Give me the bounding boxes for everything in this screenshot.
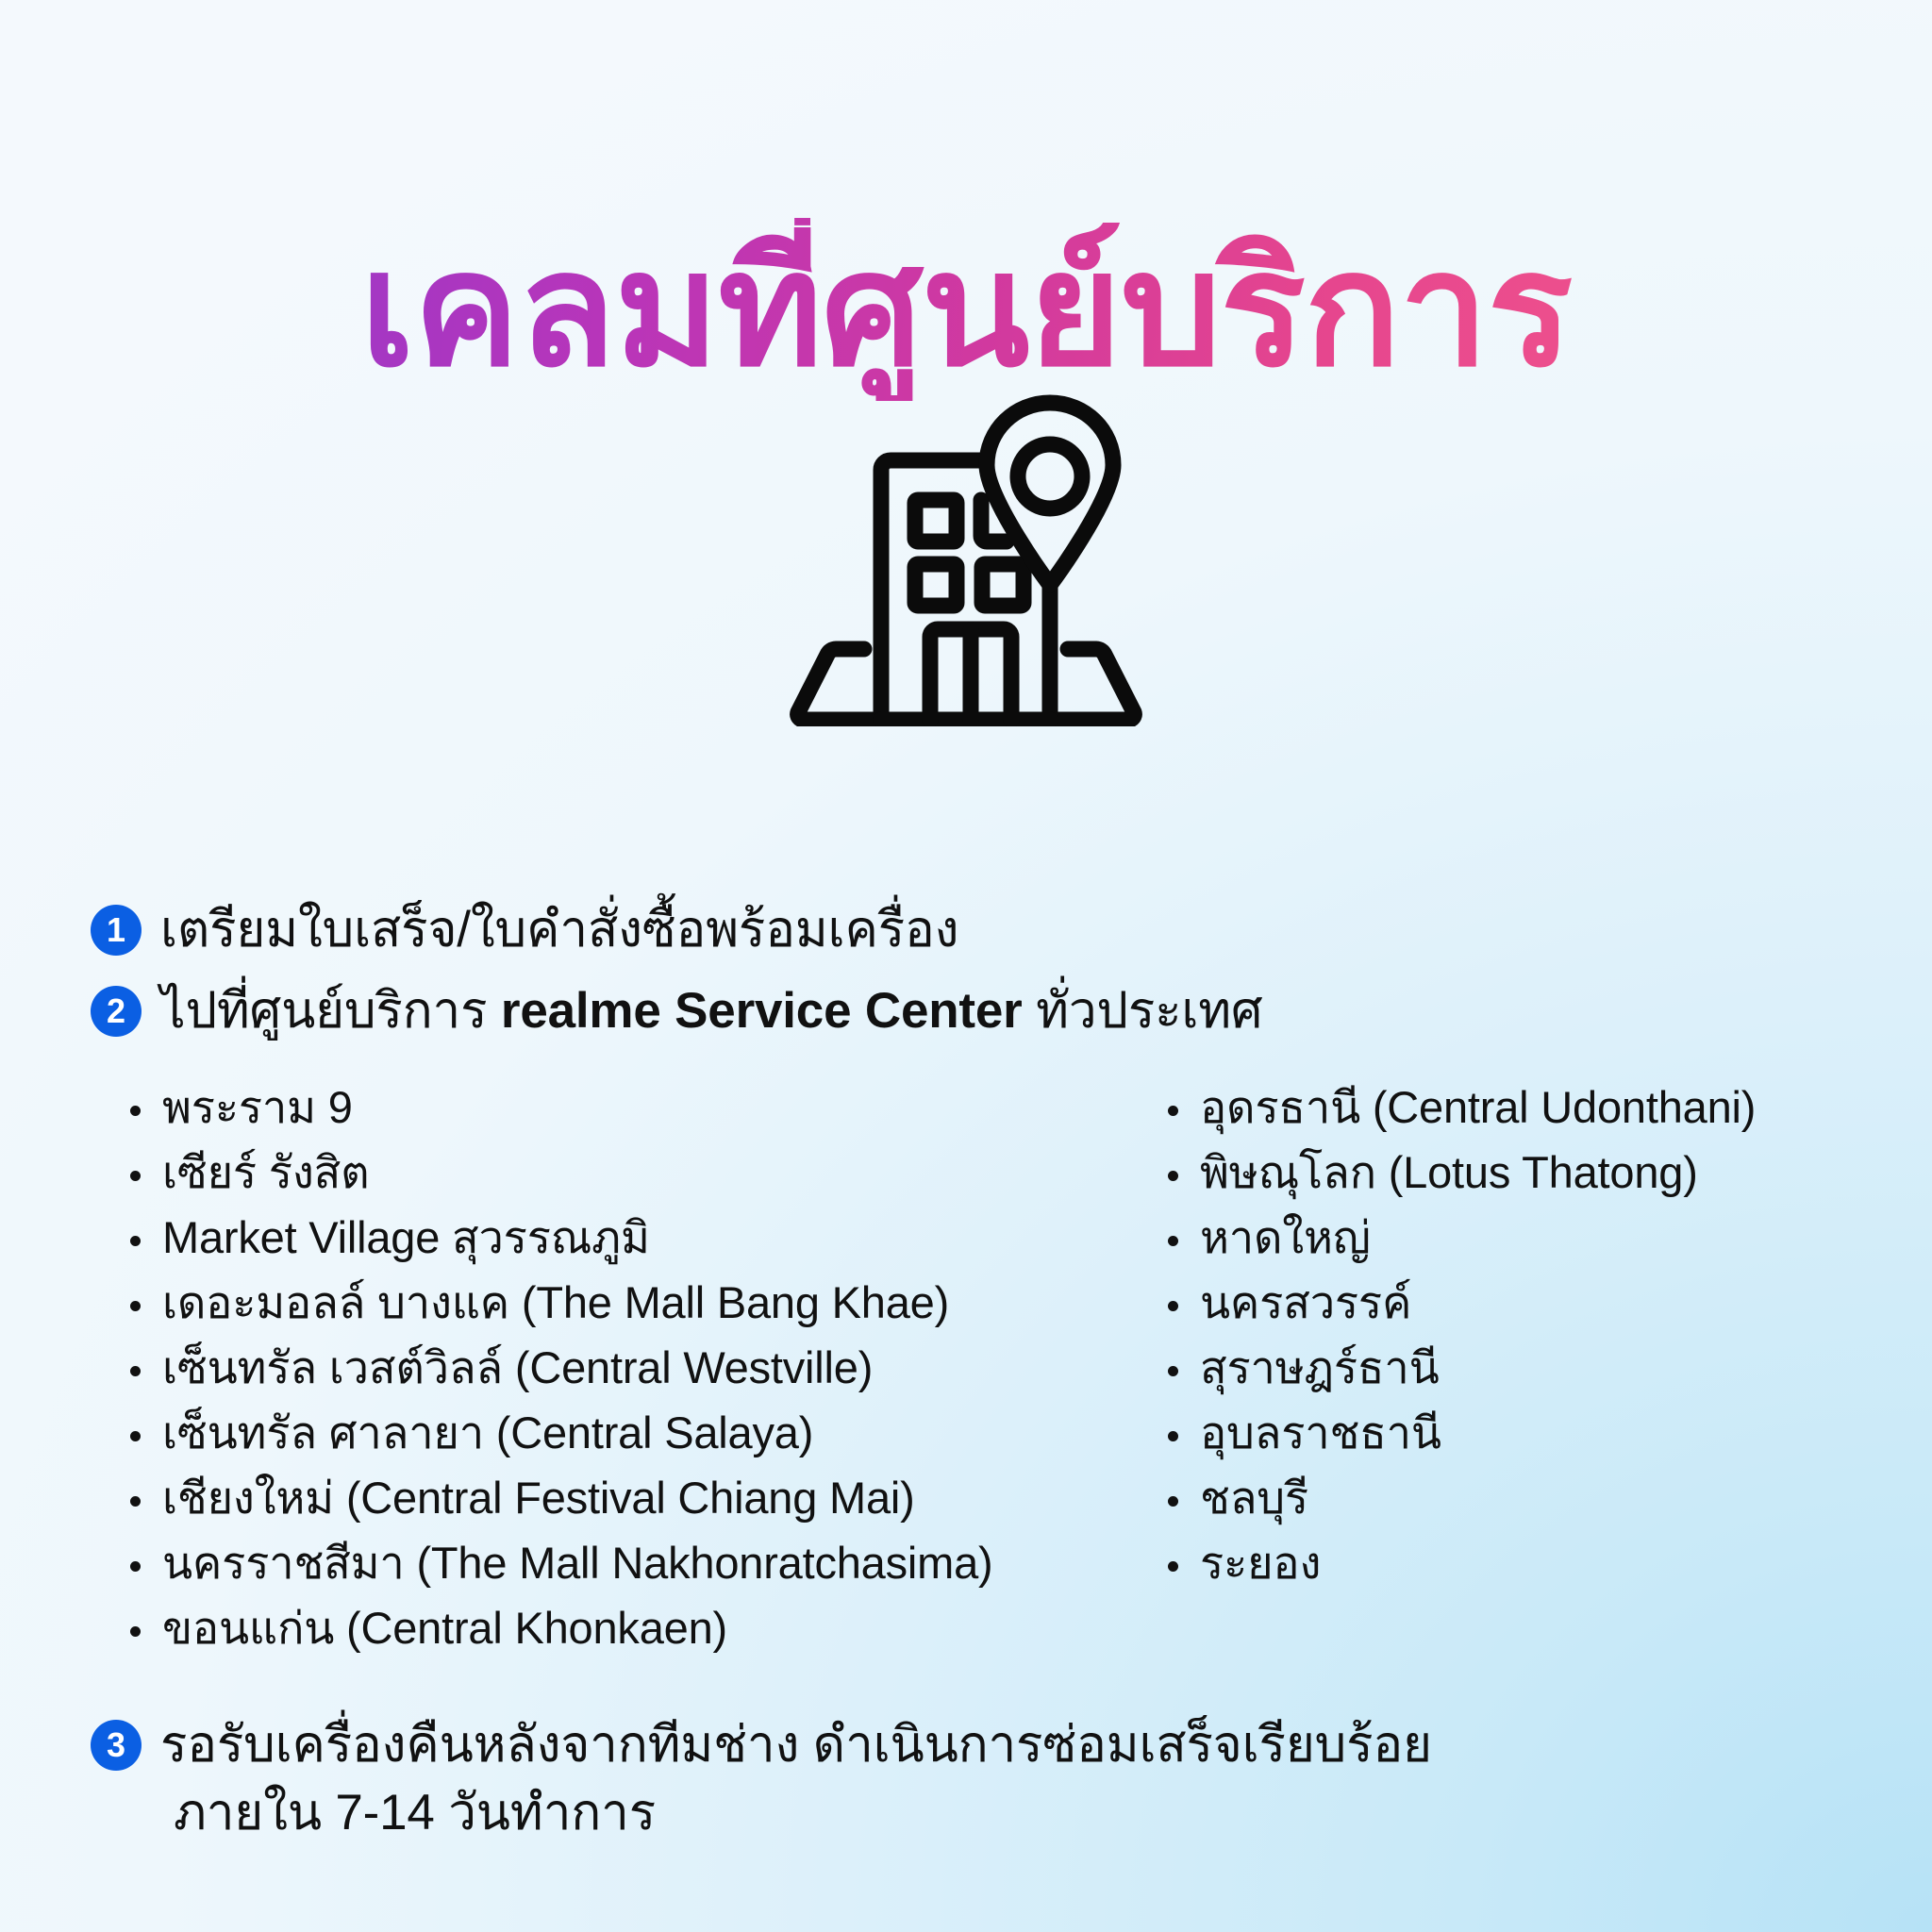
steps-list: 1 เตรียมใบเสร็จ/ใบคำสั่งซื้อพร้อมเครื่อง… <box>91 896 1864 1058</box>
branch-item: เซียร์ รังสิต <box>123 1150 1132 1194</box>
branch-item: ชลบุรี <box>1160 1475 1858 1520</box>
step-text-3: รอรับเครื่องคืนหลังจากทีมช่าง ดำเนินการซ… <box>160 1711 1432 1846</box>
window-mid-right <box>982 564 1024 606</box>
branch-item: นครสวรรค์ <box>1160 1280 1858 1324</box>
branch-item: อุดรธานี (Central Udonthani) <box>1160 1085 1858 1129</box>
branch-column-right: อุดรธานี (Central Udonthani) พิษณุโลก (L… <box>1160 1085 1858 1671</box>
step-badge-3: 3 <box>91 1720 142 1771</box>
window-top-left <box>915 500 957 541</box>
branch-item: เดอะมอลล์ บางแค (The Mall Bang Khae) <box>123 1280 1132 1324</box>
branch-item: Market Village สุวรรณภูมิ <box>123 1215 1132 1259</box>
step-text-3-line2: ภายใน 7-14 วันทำการ <box>160 1779 1432 1847</box>
branch-item: อุบลราชธานี <box>1160 1410 1858 1455</box>
service-center-location-icon <box>0 377 1932 726</box>
step-text-2-brand: realme Service Center <box>501 983 1023 1039</box>
poster-root: เคลมที่ศูนย์บริการ <box>0 0 1932 1932</box>
step-text-1: เตรียมใบเสร็จ/ใบคำสั่งซื้อพร้อมเครื่อง <box>160 896 958 964</box>
branch-item: พิษณุโลก (Lotus Thatong) <box>1160 1150 1858 1194</box>
branch-item: เชียงใหม่ (Central Festival Chiang Mai) <box>123 1475 1132 1520</box>
branch-item: ขอนแก่น (Central Khonkaen) <box>123 1606 1132 1650</box>
branch-column-left: พระราม 9 เซียร์ รังสิต Market Village สุ… <box>123 1085 1132 1671</box>
step-text-2: ไปที่ศูนย์บริการ realme Service Center ท… <box>160 977 1262 1045</box>
branch-item: นครราชสีมา (The Mall Nakhonratchasima) <box>123 1541 1132 1585</box>
step-text-2-suffix: ทั่วประเทศ <box>1023 983 1263 1039</box>
branch-item: หาดใหญ่ <box>1160 1215 1858 1259</box>
branch-item: เซ็นทรัล ศาลายา (Central Salaya) <box>123 1410 1132 1455</box>
step-badge-2: 2 <box>91 986 142 1037</box>
step-text-3-line1: รอรับเครื่องคืนหลังจากทีมช่าง ดำเนินการซ… <box>160 1717 1432 1773</box>
page-title: เคลมที่ศูนย์บริการ <box>360 218 1572 402</box>
steps-list-final: 3 รอรับเครื่องคืนหลังจากทีมช่าง ดำเนินกา… <box>91 1711 1864 1859</box>
branch-item: สุราษฎร์ธานี <box>1160 1345 1858 1390</box>
step-text-2-prefix: ไปที่ศูนย์บริการ <box>160 983 501 1039</box>
branch-item: ระยอง <box>1160 1541 1858 1585</box>
map-pin-inner-circle <box>1018 444 1082 508</box>
step-item-1: 1 เตรียมใบเสร็จ/ใบคำสั่งซื้อพร้อมเครื่อง <box>91 896 1864 964</box>
step-badge-1: 1 <box>91 905 142 956</box>
branch-item: พระราม 9 <box>123 1085 1132 1129</box>
step-item-3: 3 รอรับเครื่องคืนหลังจากทีมช่าง ดำเนินกา… <box>91 1711 1864 1846</box>
branch-list-container: พระราม 9 เซียร์ รังสิต Market Village สุ… <box>123 1085 1877 1671</box>
window-mid-left <box>915 564 957 606</box>
branch-item: เซ็นทรัล เวสต์วิลล์ (Central Westville) <box>123 1345 1132 1390</box>
step-item-2: 2 ไปที่ศูนย์บริการ realme Service Center… <box>91 977 1864 1045</box>
